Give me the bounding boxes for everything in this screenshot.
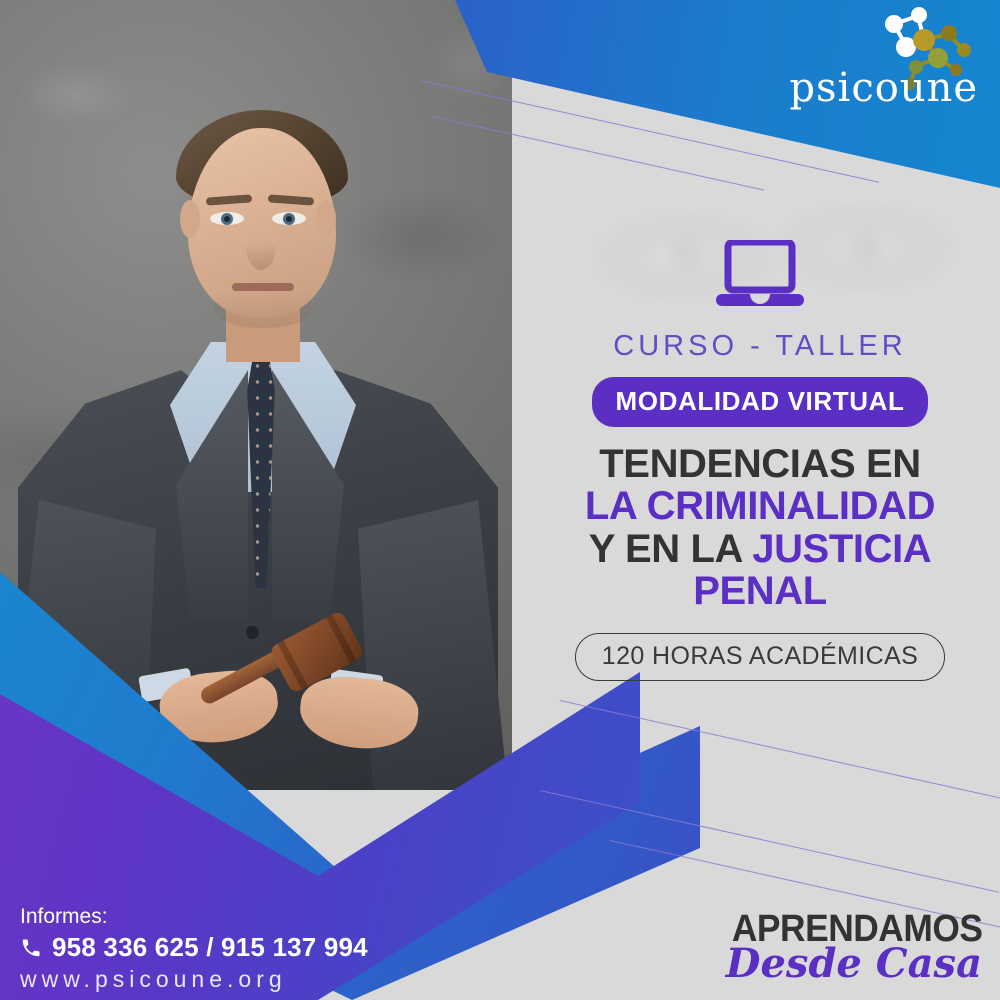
course-info: CURSO - TALLER MODALIDAD VIRTUAL TENDENC… — [520, 240, 1000, 681]
phone-numbers-text: 958 336 625 / 915 137 994 — [52, 932, 368, 963]
course-kicker: CURSO - TALLER — [520, 330, 1000, 363]
informes-label: Informes: — [20, 905, 108, 929]
logo-wordmark: psicoune — [789, 68, 978, 108]
title-line-1: TENDENCIAS EN — [599, 442, 921, 486]
course-title: TENDENCIAS EN LA CRIMINALIDAD Y EN LA JU… — [520, 443, 1000, 613]
title-line-4: PENAL — [693, 569, 827, 613]
hours-pill: 120 HORAS ACADÉMICAS — [575, 633, 945, 681]
phone-numbers: 958 336 625 / 915 137 994 — [20, 932, 368, 963]
promotional-flyer: psicoune CURSO - TALLER MODALIDAD VIRTUA… — [0, 0, 1000, 1000]
brand-logo: psicoune — [796, 6, 986, 124]
slogan: APRENDAMOS Desde Casa — [713, 910, 982, 984]
slogan-line-2: Desde Casa — [713, 944, 982, 984]
phone-icon — [20, 937, 42, 959]
title-line-3-purple: JUSTICIA — [752, 527, 931, 571]
title-line-2: LA CRIMINALIDAD — [585, 484, 935, 528]
website-url: www.psicoune.org — [20, 966, 287, 993]
modality-badge: MODALIDAD VIRTUAL — [592, 377, 929, 427]
title-line-3-dark: Y EN LA — [589, 527, 753, 571]
laptop-icon — [714, 240, 806, 312]
slogan-line-1: APRENDAMOS — [731, 910, 982, 948]
